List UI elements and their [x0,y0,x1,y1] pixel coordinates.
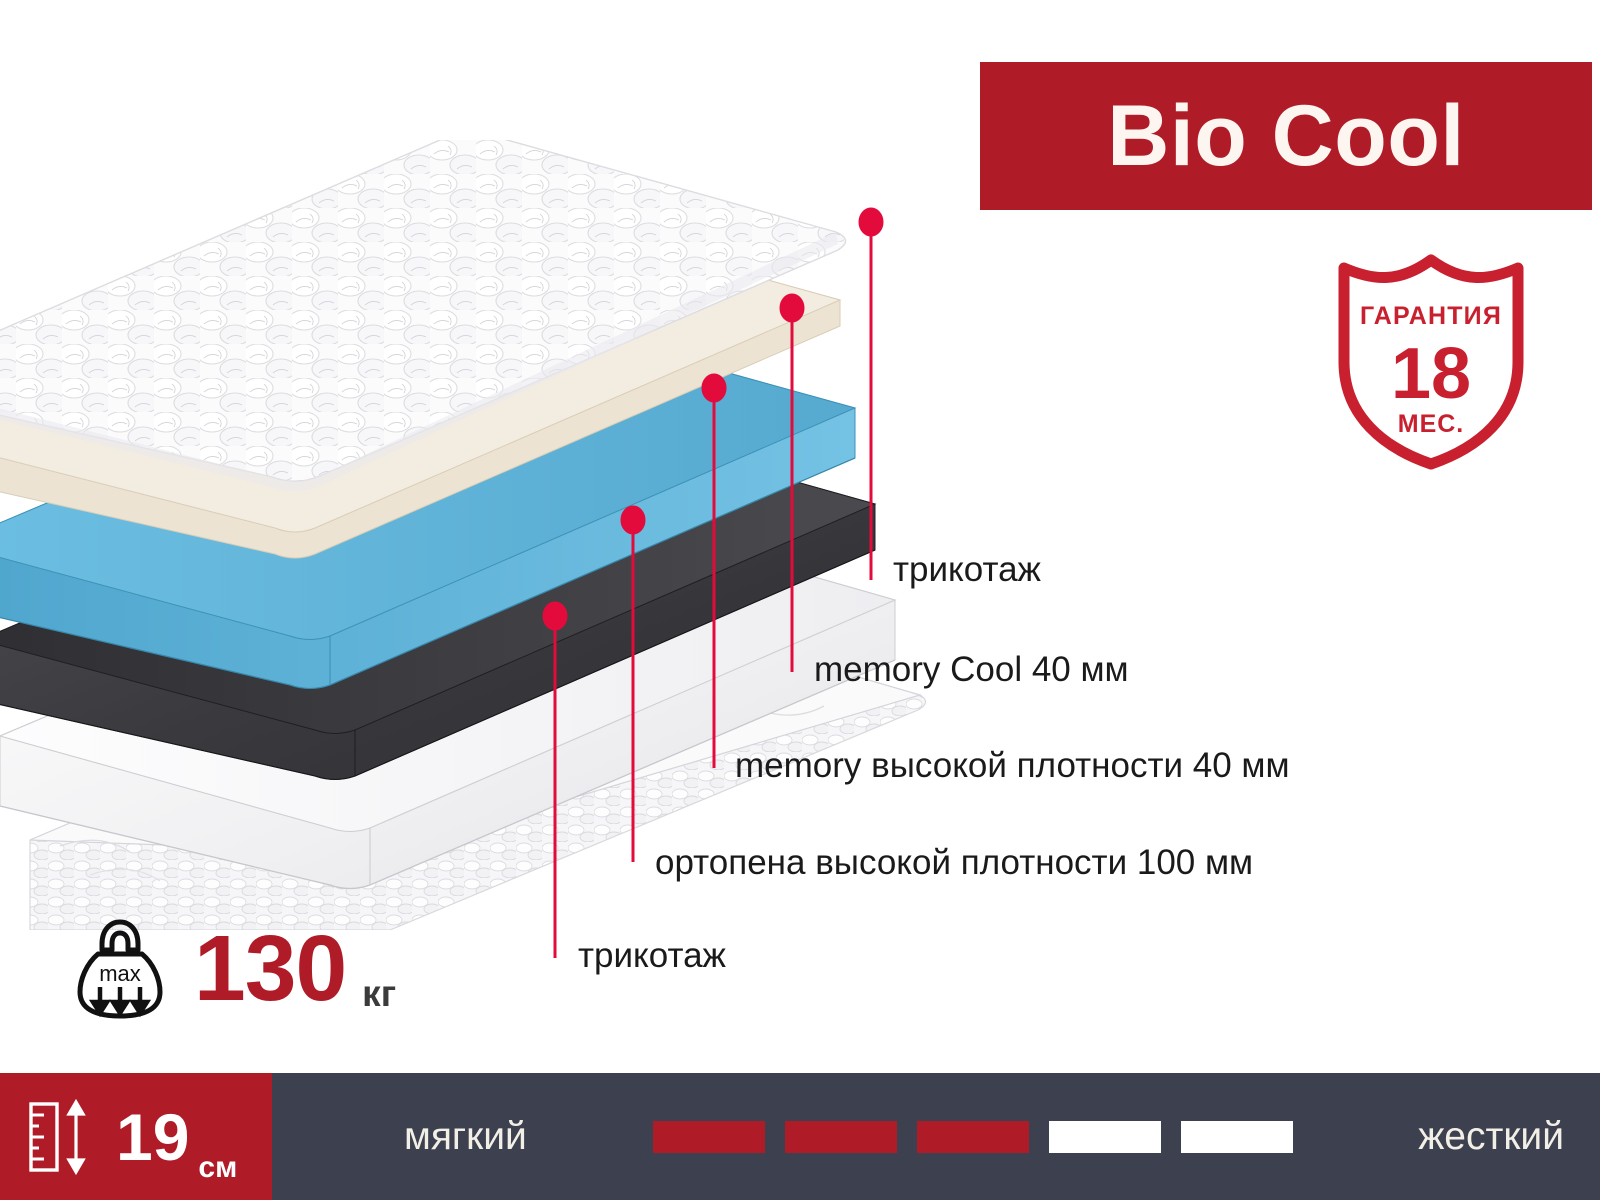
warranty-unit: МЕС. [1398,410,1465,438]
firmness-segment-3 [917,1121,1029,1153]
height-block: 19 см [0,1073,272,1200]
firmness-segment-4 [1049,1121,1161,1153]
warranty-top-text: ГАРАНТИЯ [1360,302,1502,330]
max-load-icon-text: max [99,961,141,986]
bottom-bar: 19 см мягкий жесткий [0,1073,1600,1200]
callout-label-memory-dense: memory высокой плотности 40 мм [735,748,1290,783]
mattress-exploded-illustration [0,140,960,930]
warranty-badge: ГАРАНТИЯ 18 МЕС. [1322,250,1540,472]
firmness-scale [527,1121,1418,1153]
warranty-number: 18 [1391,334,1471,414]
firmness-firm-label: жесткий [1418,1117,1564,1156]
max-load-value: 130 [194,922,346,1015]
firmness-segment-1 [653,1121,765,1153]
firmness-segment-2 [785,1121,897,1153]
firmness-segment-5 [1181,1121,1293,1153]
max-load-unit: кг [362,975,396,1024]
callout-label-ortho-foam: ортопена высокой плотности 100 мм [655,845,1253,880]
max-load-block: max 130 кг [72,912,396,1024]
firmness-block: мягкий жесткий [272,1073,1600,1200]
firmness-soft-label: мягкий [404,1117,527,1156]
callout-label-bottom-knit: трикотаж [578,938,726,973]
height-value: 19 [116,1104,189,1170]
callout-label-memory-cool: memory Cool 40 мм [814,652,1129,687]
height-unit: см [198,1153,237,1200]
ruler-height-icon [26,1098,100,1176]
callout-label-top-knit: трикотаж [893,552,1041,587]
product-infographic: трикотаж memory Cool 40 мм memory высоко… [0,0,1600,1200]
kettlebell-max-icon: max [72,914,168,1022]
product-title-banner: Bio Cool [980,62,1592,210]
page-title: Bio Cool [1107,93,1465,179]
